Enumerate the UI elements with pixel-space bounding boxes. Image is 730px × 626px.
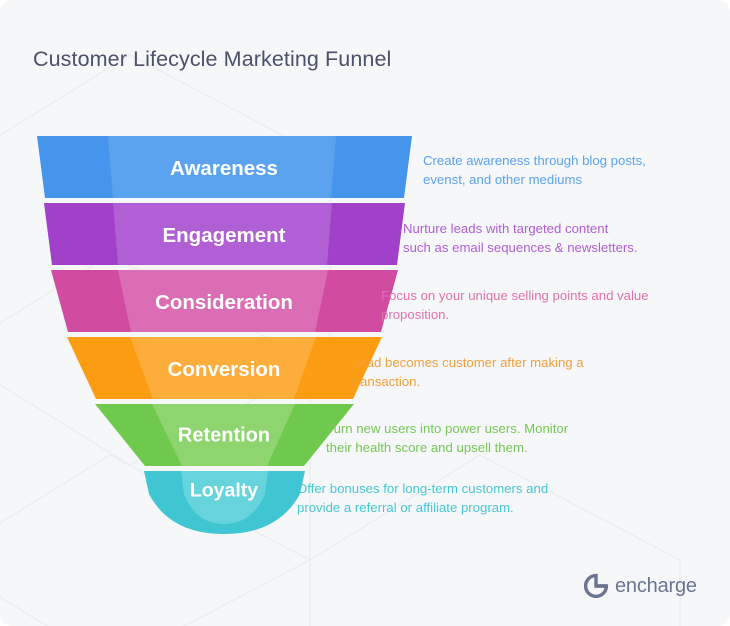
funnel-segment-engagement-inner (113, 203, 332, 265)
funnel-description-engagement: Nurture leads with targeted content such… (403, 219, 638, 257)
funnel-segment-retention[interactable] (95, 404, 354, 466)
funnel-description-consideration: Focus on your unique selling points and … (381, 286, 649, 324)
funnel-description-loyalty: Offer bonuses for long-term customers an… (297, 479, 548, 517)
funnel-segment-conversion-inner (130, 337, 316, 399)
funnel-segment-awareness-inner (108, 136, 336, 198)
funnel-segment-conversion[interactable] (67, 337, 382, 399)
brand-logo-text: encharge (615, 575, 697, 598)
funnel-segment-awareness[interactable] (37, 136, 412, 198)
funnel-description-retention: Turn new users into power users. Monitor… (326, 419, 568, 457)
funnel-segment-consideration-inner (118, 270, 328, 332)
brand-logo: encharge (583, 573, 697, 599)
funnel-segment-loyalty[interactable] (144, 471, 305, 534)
encharge-mark-icon (583, 573, 609, 599)
funnel-description-conversion: Lead becomes customer after making a tra… (352, 353, 584, 391)
funnel-segment-engagement[interactable] (44, 203, 405, 265)
funnel-description-awareness: Create awareness through blog posts, eve… (423, 151, 646, 189)
funnel-segment-consideration[interactable] (51, 270, 398, 332)
funnel-infographic-page: Customer Lifecycle Marketing Funnel (0, 0, 730, 626)
